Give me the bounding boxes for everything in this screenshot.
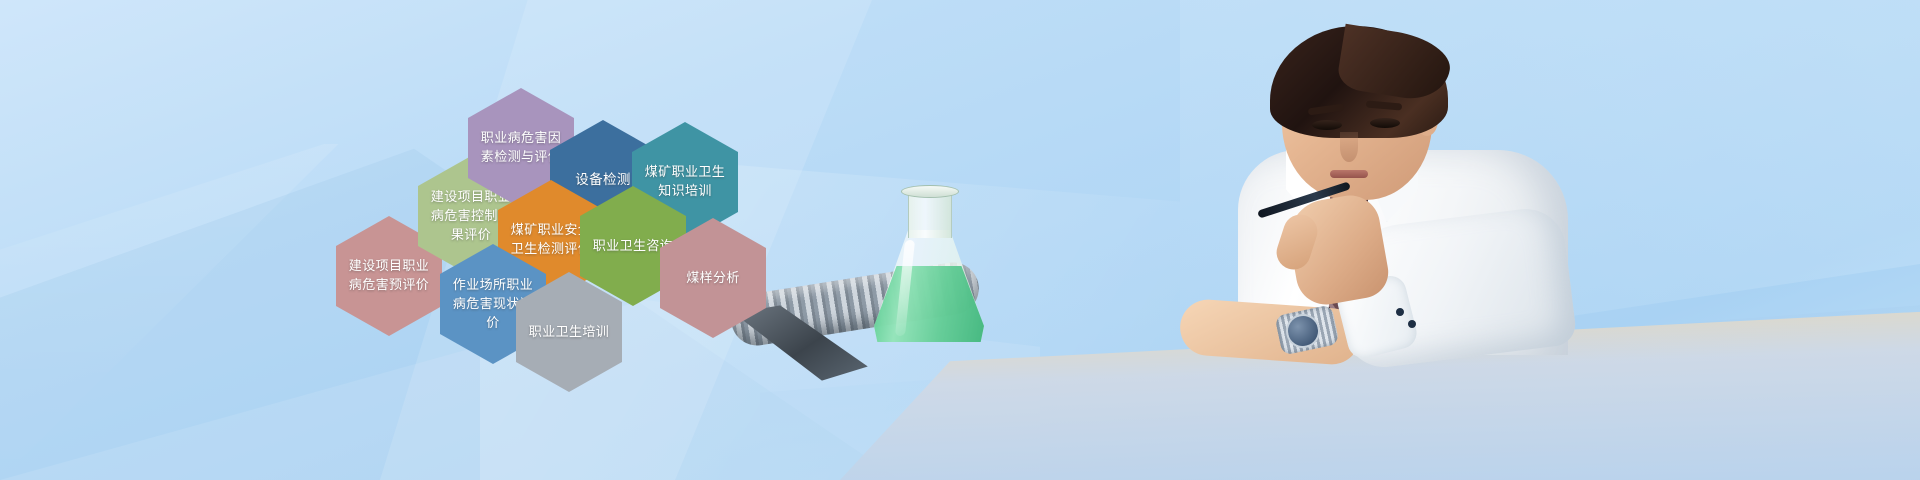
person-eye-right [1370, 118, 1400, 128]
photo-composition [980, 0, 1920, 480]
conical-flask [870, 190, 990, 340]
hexagon-service-cluster: 建设项目职业病危害预评价 建设项目职业病危害控制效果评价 职业病危害因素检测与评… [336, 60, 776, 360]
person-mouth [1330, 170, 1368, 178]
hexagon-label: 职业卫生培训 [529, 323, 609, 342]
person-thinking [1220, 22, 1640, 352]
hexagon-label: 煤样分析 [686, 269, 740, 288]
hexagon-label: 煤矿职业卫生知识培训 [643, 163, 727, 201]
flask-lip [901, 185, 959, 198]
hexagon-label: 设备检测 [575, 171, 631, 190]
cuff-button-lower [1408, 320, 1416, 328]
hexagon-label: 建设项目职业病危害预评价 [347, 257, 431, 295]
person-eye-left [1312, 120, 1342, 130]
person-nose [1340, 132, 1358, 162]
banner-root: 建设项目职业病危害预评价 建设项目职业病危害控制效果评价 职业病危害因素检测与评… [0, 0, 1920, 480]
flask-green-liquid [874, 266, 984, 342]
cuff-button-upper [1396, 308, 1404, 316]
